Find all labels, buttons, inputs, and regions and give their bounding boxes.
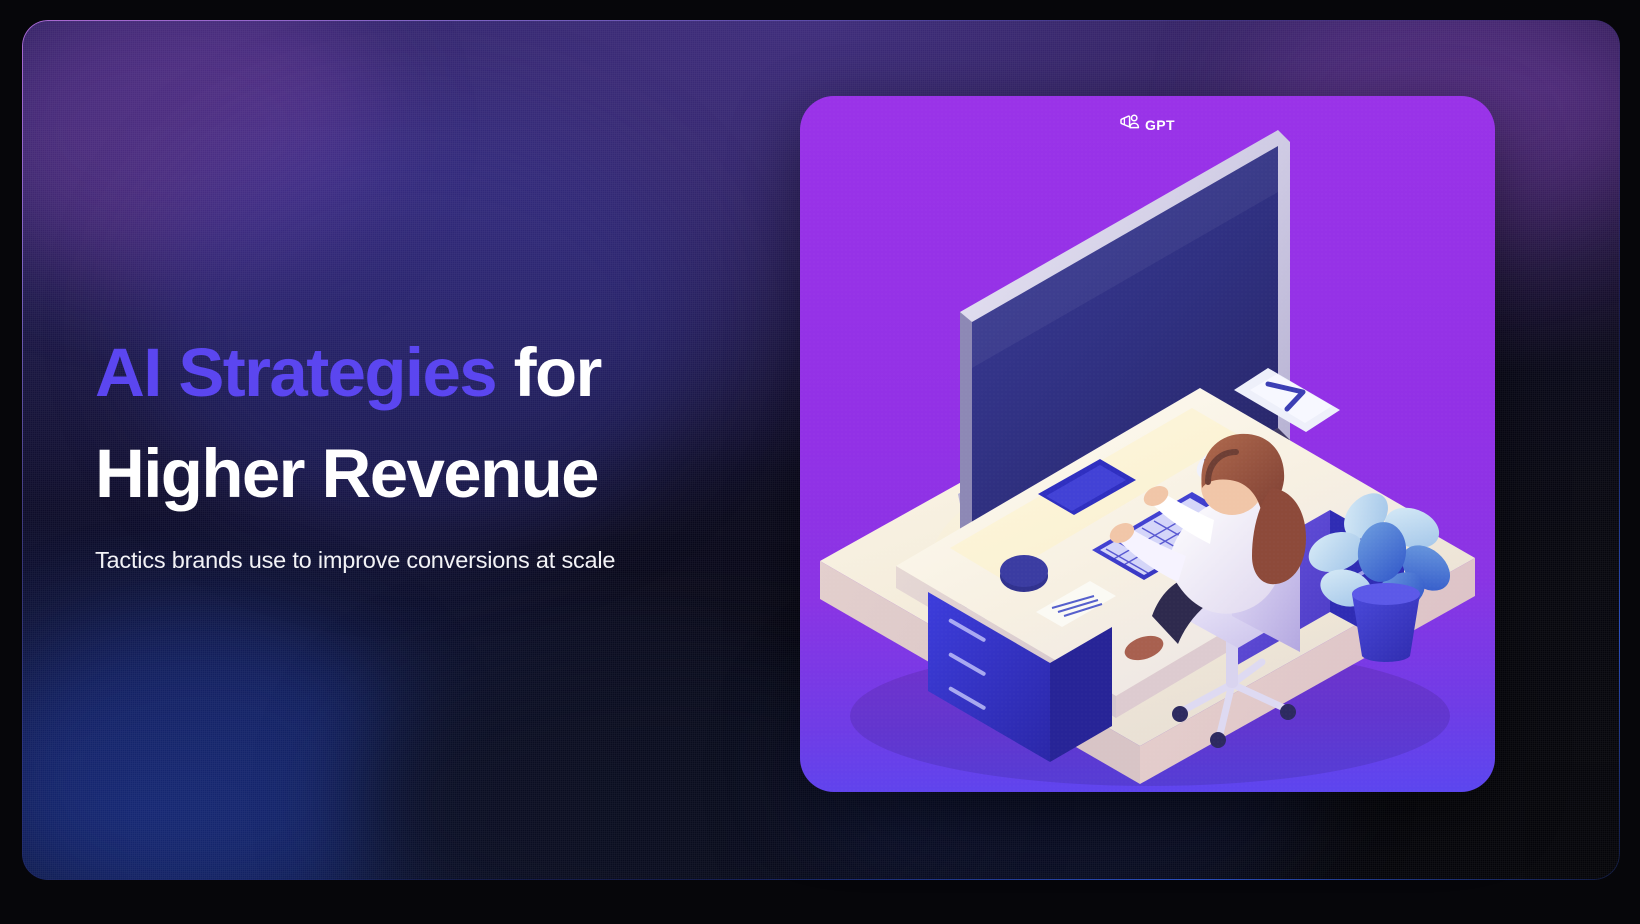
chair-caster-3 <box>1210 732 1226 748</box>
brand-logo: GPT <box>800 114 1495 135</box>
brand-name: GPT <box>1145 117 1175 133</box>
nebula-glow-a <box>22 20 382 280</box>
illustration-card: GPT <box>800 96 1495 792</box>
desk-lamp-puck-top <box>1000 555 1048 587</box>
page-subtitle: Tactics brands use to improve conversion… <box>95 547 775 574</box>
headline-block: AI Strategies for Higher Revenue Tactics… <box>95 322 775 574</box>
page-title: AI Strategies for Higher Revenue <box>95 322 775 525</box>
chair-caster-2 <box>1280 704 1296 720</box>
megaphone-person-icon <box>1120 114 1140 135</box>
headline-line2: Higher Revenue <box>95 435 598 512</box>
chair-caster-1 <box>1172 706 1188 722</box>
headline-accent-text: AI Strategies <box>95 334 496 411</box>
plant-pot-rim <box>1352 583 1420 605</box>
isometric-scene <box>800 96 1495 792</box>
poster-canvas: AI Strategies for Higher Revenue Tactics… <box>0 0 1640 924</box>
headline-line1-rest: for <box>496 334 601 411</box>
nebula-glow-c <box>22 610 412 880</box>
